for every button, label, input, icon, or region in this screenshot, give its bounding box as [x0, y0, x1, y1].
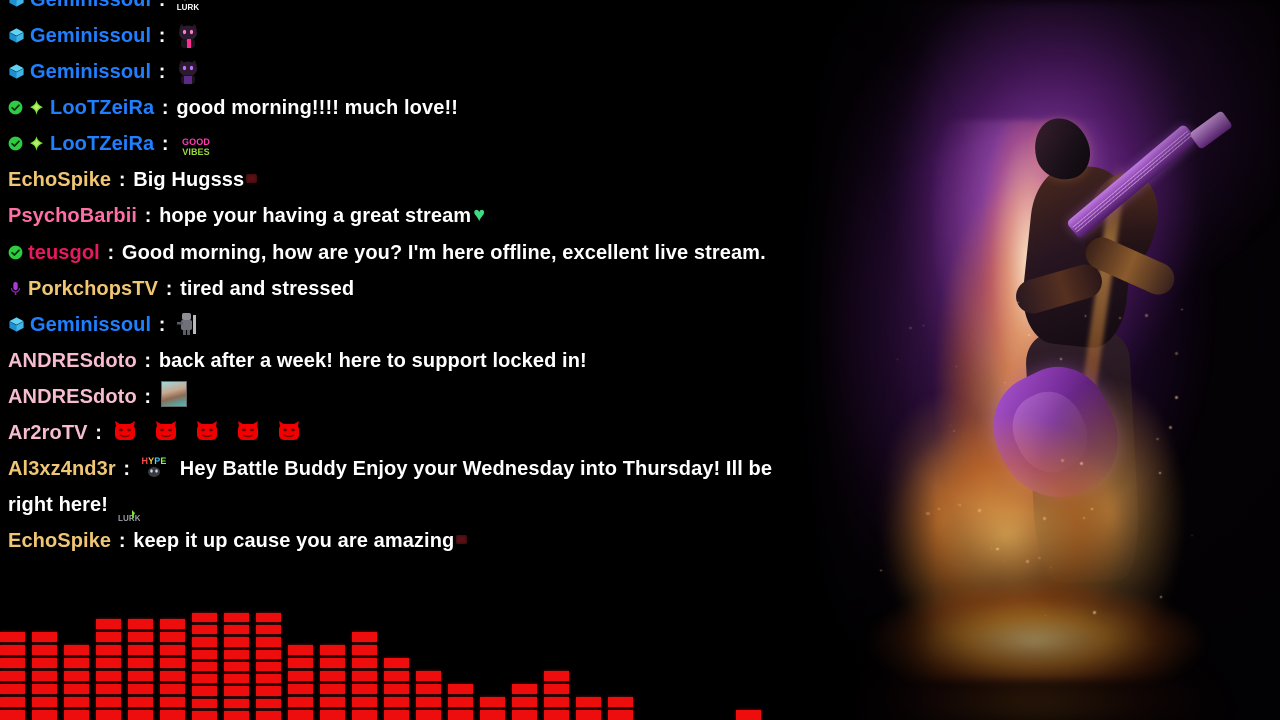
devil-emote — [153, 419, 179, 443]
equalizer-segment — [0, 632, 25, 642]
chat-message-text: keep it up cause you are amazing — [133, 530, 454, 552]
equalizer-segment — [224, 662, 249, 671]
equalizer-segment — [288, 684, 313, 694]
equalizer-segment — [128, 645, 153, 655]
equalizer-segment — [0, 684, 25, 694]
chat-username[interactable]: Ar2roTV — [8, 422, 88, 444]
equalizer-segment — [192, 625, 217, 634]
equalizer-bar — [640, 610, 665, 720]
equalizer-segment — [352, 671, 377, 681]
diamond-badge — [28, 99, 45, 116]
equalizer-segment — [320, 684, 345, 694]
equalizer-segment — [384, 684, 409, 694]
ember-spark — [978, 509, 980, 511]
chat-message[interactable]: Geminissoul : LURK — [0, 0, 800, 18]
chat-username[interactable]: ANDRESdoto — [8, 386, 137, 408]
equalizer-segment — [320, 671, 345, 681]
pink-cat-emote — [175, 21, 201, 49]
svg-text:VIBES: VIBES — [183, 147, 211, 157]
equalizer-segment — [160, 684, 185, 694]
equalizer-bar — [352, 610, 377, 720]
equalizer-segment — [32, 710, 57, 720]
ember-spark — [938, 508, 940, 510]
chat-username[interactable]: LooTZeiRa — [50, 133, 154, 155]
chat-message[interactable]: Geminissoul : — [0, 54, 800, 90]
ember-spark — [1169, 426, 1172, 429]
equalizer-segment — [352, 684, 377, 694]
equalizer-segment — [160, 658, 185, 668]
diamond-badge — [28, 135, 45, 152]
equalizer-segment — [736, 710, 761, 720]
equalizer-segment — [192, 650, 217, 659]
equalizer-segment — [0, 671, 25, 681]
equalizer-segment — [480, 710, 505, 720]
equalizer-bar — [672, 610, 697, 720]
equalizer-segment — [224, 674, 249, 683]
equalizer-segment — [224, 699, 249, 708]
equalizer-segment — [32, 684, 57, 694]
chat-message[interactable]: Al3xz4nd3r : HYPEHey Battle Buddy Enjoy … — [0, 451, 800, 523]
equalizer-bar — [512, 610, 537, 720]
equalizer-segment — [576, 697, 601, 707]
equalizer-segment — [96, 697, 121, 707]
equalizer-segment — [96, 619, 121, 629]
chat-message-text: hope your having a great stream — [159, 205, 471, 227]
chat-message[interactable]: EchoSpike : Big Hugsss — [0, 162, 800, 198]
chat-message[interactable]: teusgol : Good morning, how are you? I'm… — [0, 235, 800, 271]
verified-check-badge — [8, 100, 23, 115]
devil-emote — [112, 419, 138, 443]
equalizer-bar — [128, 610, 153, 720]
equalizer-segment — [192, 613, 217, 622]
equalizer-segment — [384, 697, 409, 707]
equalizer-segment — [96, 658, 121, 668]
ember-spark — [950, 425, 951, 426]
robot-emote — [175, 310, 201, 336]
chat-username[interactable]: LooTZeiRa — [50, 97, 154, 119]
equalizer-segment — [512, 710, 537, 720]
artwork-vignette — [790, 0, 1280, 720]
guitarist-flame-artwork — [790, 0, 1280, 720]
chat-username[interactable]: EchoSpike — [8, 169, 111, 191]
svg-text:LURK: LURK — [118, 514, 140, 523]
chat-separator: : — [154, 97, 176, 119]
equalizer-segment — [256, 686, 281, 695]
equalizer-segment — [384, 658, 409, 668]
equalizer-segment — [160, 632, 185, 642]
equalizer-bar — [768, 610, 793, 720]
equalizer-bar — [416, 610, 441, 720]
devil-emote — [194, 419, 220, 443]
chat-message-text: Big Hugsss — [133, 169, 244, 191]
lurk-small-emote: LURK — [110, 500, 140, 516]
equalizer-segment — [352, 710, 377, 720]
chat-username[interactable]: PorkchopsTV — [28, 278, 158, 300]
equalizer-segment — [480, 697, 505, 707]
equalizer-segment — [448, 684, 473, 694]
equalizer-bar — [480, 610, 505, 720]
equalizer-segment — [576, 710, 601, 720]
equalizer-segment — [192, 637, 217, 646]
equalizer-segment — [256, 662, 281, 671]
equalizer-segment — [288, 658, 313, 668]
lurk-emote: LURK — [175, 0, 201, 12]
chat-username[interactable]: Geminissoul — [30, 25, 151, 47]
ember-spark — [1026, 560, 1029, 563]
equalizer-segment — [192, 711, 217, 720]
equalizer-segment — [128, 671, 153, 681]
equalizer-segment — [128, 710, 153, 720]
equalizer-segment — [64, 684, 89, 694]
equalizer-segment — [96, 684, 121, 694]
equalizer-segment — [288, 645, 313, 655]
chat-message-text: Good morning, how are you? I'm here offl… — [122, 242, 766, 264]
equalizer-segment — [512, 684, 537, 694]
equalizer-segment — [256, 711, 281, 720]
photo-emote — [161, 381, 187, 407]
chat-separator: : — [151, 61, 173, 83]
chat-separator: : — [111, 530, 133, 552]
equalizer-segment — [160, 619, 185, 629]
chat-separator: : — [137, 205, 159, 227]
equalizer-segment — [160, 710, 185, 720]
equalizer-segment — [608, 697, 633, 707]
equalizer-segment — [128, 632, 153, 642]
equalizer-segment — [224, 637, 249, 646]
equalizer-segment — [544, 684, 569, 694]
equalizer-segment — [288, 710, 313, 720]
equalizer-segment — [320, 645, 345, 655]
equalizer-segment — [448, 710, 473, 720]
equalizer-segment — [256, 625, 281, 634]
chat-message[interactable]: ANDRESdoto : back after a week! here to … — [0, 343, 800, 379]
equalizer-segment — [64, 671, 89, 681]
equalizer-segment — [256, 613, 281, 622]
ember-spark — [1156, 438, 1159, 441]
equalizer-segment — [512, 697, 537, 707]
equalizer-bar — [224, 610, 249, 720]
equalizer-bar — [96, 610, 121, 720]
svg-text:LURK: LURK — [177, 3, 200, 12]
chat-message[interactable]: PorkchopsTV : tired and stressed — [0, 271, 800, 307]
ember-spark — [1017, 302, 1019, 304]
equalizer-bar — [160, 610, 185, 720]
chat-message[interactable]: EchoSpike : keep it up cause you are ama… — [0, 523, 800, 559]
chat-message[interactable]: Geminissoul : — [0, 307, 800, 343]
chat-username[interactable]: teusgol — [28, 242, 100, 264]
chat-separator: : — [100, 242, 122, 264]
equalizer-segment — [160, 697, 185, 707]
equalizer-segment — [416, 684, 441, 694]
equalizer-segment — [0, 658, 25, 668]
chat-message[interactable]: LooTZeiRa : GOODVIBES — [0, 126, 800, 162]
equalizer-segment — [320, 710, 345, 720]
audio-equalizer — [0, 610, 800, 720]
cube-badge — [8, 27, 25, 44]
equalizer-segment — [608, 710, 633, 720]
equalizer-segment — [384, 710, 409, 720]
chat-separator: : — [137, 386, 159, 408]
chat-username[interactable]: PsychoBarbii — [8, 205, 137, 227]
equalizer-segment — [352, 697, 377, 707]
chat-username[interactable]: ANDRESdoto — [8, 350, 137, 372]
equalizer-segment — [192, 686, 217, 695]
equalizer-segment — [224, 711, 249, 720]
equalizer-segment — [64, 645, 89, 655]
purple-cat-emote — [175, 57, 201, 85]
equalizer-segment — [224, 686, 249, 695]
equalizer-segment — [352, 645, 377, 655]
ember-spark — [1145, 314, 1148, 317]
equalizer-segment — [96, 645, 121, 655]
chat-message[interactable]: PsychoBarbii : hope your having a great … — [0, 198, 800, 235]
equalizer-segment — [256, 637, 281, 646]
equalizer-bar — [448, 610, 473, 720]
equalizer-segment — [128, 658, 153, 668]
equalizer-segment — [288, 671, 313, 681]
equalizer-segment — [384, 671, 409, 681]
ember-spark — [1004, 560, 1005, 561]
cube-badge — [8, 63, 25, 80]
chat-username[interactable]: Al3xz4nd3r — [8, 458, 116, 480]
chat-message-text: tired and stressed — [180, 278, 354, 300]
equalizer-bar — [576, 610, 601, 720]
chat-separator: : — [151, 314, 173, 336]
chat-message[interactable]: ANDRESdoto : — [0, 379, 800, 415]
equalizer-segment — [160, 671, 185, 681]
chat-separator: : — [137, 350, 159, 372]
equalizer-segment — [32, 671, 57, 681]
equalizer-segment — [96, 710, 121, 720]
equalizer-bar — [384, 610, 409, 720]
chat-separator: : — [154, 133, 176, 155]
equalizer-segment — [320, 697, 345, 707]
chat-separator: : — [116, 458, 138, 480]
devil-emote — [276, 419, 302, 443]
equalizer-segment — [256, 650, 281, 659]
verified-check-badge — [8, 136, 23, 151]
equalizer-segment — [288, 697, 313, 707]
microphone-badge — [8, 280, 23, 297]
equalizer-bar — [64, 610, 89, 720]
chat-separator: : — [111, 169, 133, 191]
equalizer-segment — [544, 710, 569, 720]
chat-message-text: back after a week! here to support locke… — [159, 350, 587, 372]
equalizer-segment — [128, 619, 153, 629]
equalizer-segment — [224, 613, 249, 622]
chat-separator: : — [88, 422, 110, 444]
equalizer-segment — [32, 658, 57, 668]
equalizer-bar — [288, 610, 313, 720]
equalizer-segment — [0, 710, 25, 720]
equalizer-bar — [736, 610, 761, 720]
equalizer-segment — [0, 645, 25, 655]
ember-spark — [926, 512, 929, 515]
svg-text:HYPE: HYPE — [141, 456, 166, 466]
equalizer-segment — [192, 674, 217, 683]
equalizer-segment — [32, 632, 57, 642]
tiny-red-emote — [246, 174, 257, 183]
equalizer-segment — [352, 658, 377, 668]
equalizer-segment — [416, 710, 441, 720]
equalizer-segment — [352, 632, 377, 642]
tiny-red-emote — [456, 535, 467, 544]
equalizer-segment — [256, 699, 281, 708]
equalizer-segment — [128, 697, 153, 707]
equalizer-segment — [32, 645, 57, 655]
equalizer-bar — [256, 610, 281, 720]
chat-separator: : — [158, 278, 180, 300]
chat-message[interactable]: Ar2roTV : — [0, 415, 800, 451]
green-heart-emote: ♥ — [473, 197, 485, 233]
chat-username[interactable]: Geminissoul — [30, 0, 151, 11]
ember-spark — [1038, 557, 1040, 559]
equalizer-segment — [544, 697, 569, 707]
equalizer-bar — [608, 610, 633, 720]
chat-username[interactable]: EchoSpike — [8, 530, 111, 552]
chat-message-text: good morning!!!! much love!! — [176, 97, 458, 119]
chat-separator: : — [151, 25, 173, 47]
equalizer-segment — [160, 645, 185, 655]
chat-username[interactable]: Geminissoul — [30, 61, 151, 83]
equalizer-bar — [192, 610, 217, 720]
chat-separator: : — [151, 0, 173, 11]
equalizer-segment — [416, 671, 441, 681]
cube-badge — [8, 316, 25, 333]
equalizer-bar — [320, 610, 345, 720]
equalizer-segment — [224, 625, 249, 634]
equalizer-segment — [64, 658, 89, 668]
chat-message[interactable]: LooTZeiRa : good morning!!!! much love!! — [0, 90, 800, 126]
svg-text:GOOD: GOOD — [182, 137, 210, 147]
devil-emote — [235, 419, 261, 443]
equalizer-bar — [544, 610, 569, 720]
equalizer-segment — [0, 697, 25, 707]
stream-overlay-stage: Geminissoul : LURKGeminissoul : Geminiss… — [0, 0, 1280, 720]
equalizer-segment — [224, 650, 249, 659]
ember-spark — [880, 570, 882, 572]
ember-spark — [1060, 358, 1062, 360]
equalizer-segment — [32, 697, 57, 707]
equalizer-segment — [192, 662, 217, 671]
equalizer-segment — [448, 697, 473, 707]
verified-check-badge — [8, 245, 23, 260]
equalizer-segment — [96, 632, 121, 642]
equalizer-segment — [192, 699, 217, 708]
good-vibes-emote: GOODVIBES — [178, 133, 214, 155]
chat-message-list[interactable]: Geminissoul : LURKGeminissoul : Geminiss… — [0, 0, 800, 600]
equalizer-bar — [32, 610, 57, 720]
equalizer-segment — [128, 684, 153, 694]
equalizer-bar — [704, 610, 729, 720]
equalizer-segment — [64, 697, 89, 707]
equalizer-segment — [320, 658, 345, 668]
ember-spark — [1061, 459, 1064, 462]
hype-emote: HYPE — [140, 454, 168, 480]
equalizer-segment — [64, 710, 89, 720]
chat-message[interactable]: Geminissoul : — [0, 18, 800, 54]
equalizer-segment — [96, 671, 121, 681]
chat-username[interactable]: Geminissoul — [30, 314, 151, 336]
equalizer-segment — [416, 697, 441, 707]
equalizer-bar — [0, 610, 25, 720]
cube-badge — [8, 0, 25, 8]
equalizer-segment — [544, 671, 569, 681]
equalizer-segment — [256, 674, 281, 683]
ember-spark — [1093, 611, 1096, 614]
